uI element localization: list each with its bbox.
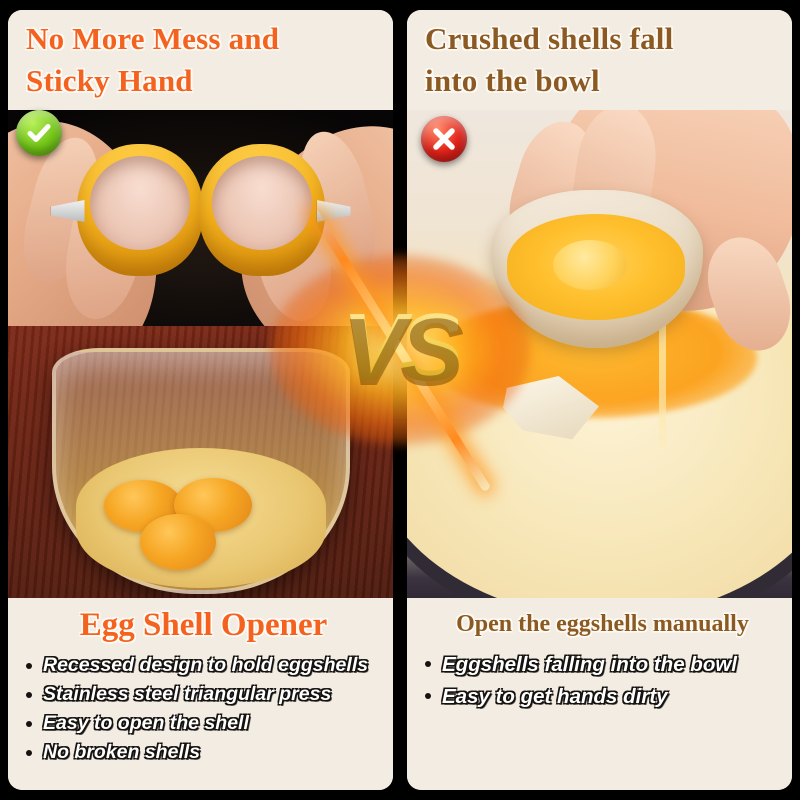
left-headline-line-2: Sticky Hand — [26, 60, 383, 102]
list-item: Stainless steel triangular press — [24, 681, 383, 708]
right-photo-stack — [407, 108, 792, 608]
check-circle-icon — [16, 110, 62, 156]
right-headline-line-2: into the bowl — [425, 60, 782, 102]
left-bottom-text-block: Egg Shell Opener Recessed design to hold… — [8, 598, 393, 790]
right-panel-manual: Crushed shells fall into the bowl Open t — [407, 10, 792, 790]
left-photo-stack — [8, 108, 393, 608]
right-headline-line-1: Crushed shells fall — [425, 18, 782, 60]
photo-glass-bowl-with-yolks — [8, 326, 393, 608]
photo-manual-egg-cracking — [407, 108, 792, 608]
left-panel-product: No More Mess and Sticky Hand — [8, 10, 393, 790]
list-item: Eggshells falling into the bowl — [423, 650, 782, 680]
right-headline-block: Crushed shells fall into the bowl — [407, 10, 792, 110]
list-item: Easy to open the shell — [24, 710, 383, 737]
right-bottom-text-block: Open the eggshells manually Eggshells fa… — [407, 598, 792, 790]
list-item: Recessed design to hold eggshells — [24, 652, 383, 679]
right-drawback-list: Eggshells falling into the bowl Easy to … — [423, 650, 782, 712]
cross-circle-icon — [421, 116, 467, 162]
left-headline-line-1: No More Mess and — [26, 18, 383, 60]
left-benefit-list: Recessed design to hold eggshells Stainl… — [24, 652, 383, 766]
method-title: Open the eggshells manually — [423, 604, 782, 644]
left-headline-block: No More Mess and Sticky Hand — [8, 10, 393, 110]
egg-white-drip — [659, 322, 666, 448]
egg-yolk — [140, 514, 216, 570]
opener-cup-left — [77, 144, 203, 276]
product-title: Egg Shell Opener — [24, 604, 383, 646]
comparison-infographic: No More Mess and Sticky Hand — [0, 0, 800, 800]
glass-bowl — [52, 348, 350, 594]
egg-yolk — [553, 240, 627, 290]
egg-shell-opener-tool — [75, 144, 327, 280]
photo-egg-shell-opener-in-hands — [8, 108, 393, 333]
opener-cup-right — [199, 144, 325, 276]
list-item: No broken shells — [24, 739, 383, 766]
list-item: Easy to get hands dirty — [423, 682, 782, 712]
